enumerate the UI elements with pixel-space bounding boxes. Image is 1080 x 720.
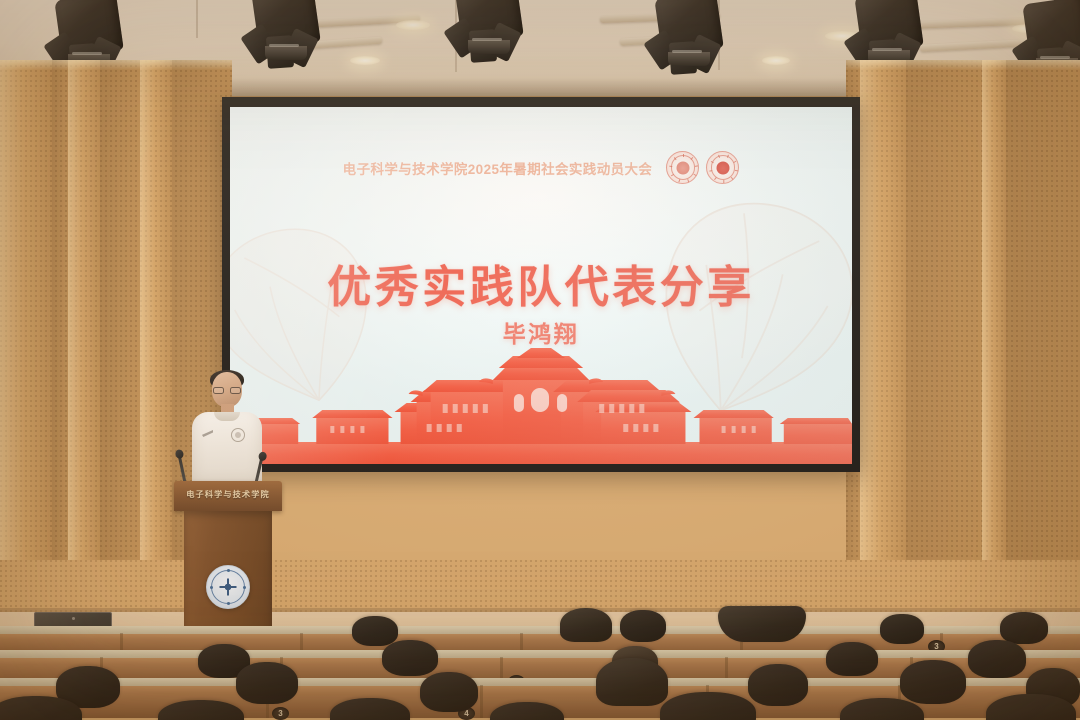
university-seal-left-icon [666,151,699,184]
stage-spotlight [452,0,530,70]
auditorium-scene: 电子科学与技术学院2025年暑期社会实践动员大会 [0,0,1080,720]
ceiling-downlight [396,20,430,30]
audience-head [900,660,966,704]
speaker-person [188,372,266,492]
shirt-crest-logo [231,428,245,442]
ceiling-downlight [350,56,380,65]
audience-head [560,608,612,642]
ceiling-downlight [762,56,790,65]
slide-header: 电子科学与技术学院2025年暑期社会实践动员大会 [230,151,852,184]
audience-head [352,616,398,646]
slide-subtitle-speaker-name: 毕鸿翔 [230,315,852,349]
audience-head [420,672,478,712]
audience-head [1000,612,1048,644]
slide-title: 优秀实践队代表分享 [230,251,852,315]
podium-nameplate: 电子科学与技术学院 [174,488,282,500]
podium-top: 电子科学与技术学院 [174,481,282,511]
audience-head [748,664,808,706]
campus-building-silhouette [230,346,852,464]
speaker-shirt [192,412,262,492]
audience-head [718,606,806,642]
audience-head [968,640,1026,678]
audience-head [236,662,298,704]
audience-head [826,642,878,676]
acoustic-wall-right [846,60,1080,580]
slide-header-text: 电子科学与技术学院2025年暑期社会实践动员大会 [343,158,653,178]
seal-group [666,151,739,184]
university-seal-right-icon [706,151,739,184]
audience-head [620,610,666,642]
presentation-slide[interactable]: 电子科学与技术学院2025年暑期社会实践动员大会 [230,107,852,464]
stage-spotlight [652,0,730,82]
led-screen-bezel: 电子科学与技术学院2025年暑期社会实践动员大会 [222,97,860,472]
glasses-icon [213,387,241,394]
audience-area: 3 4 3 4 [0,600,1080,720]
audience-head [382,640,438,676]
audience-head [880,614,924,644]
audience-head [596,658,668,706]
seat-number: 3 [272,707,289,720]
stage-spotlight [249,0,327,76]
